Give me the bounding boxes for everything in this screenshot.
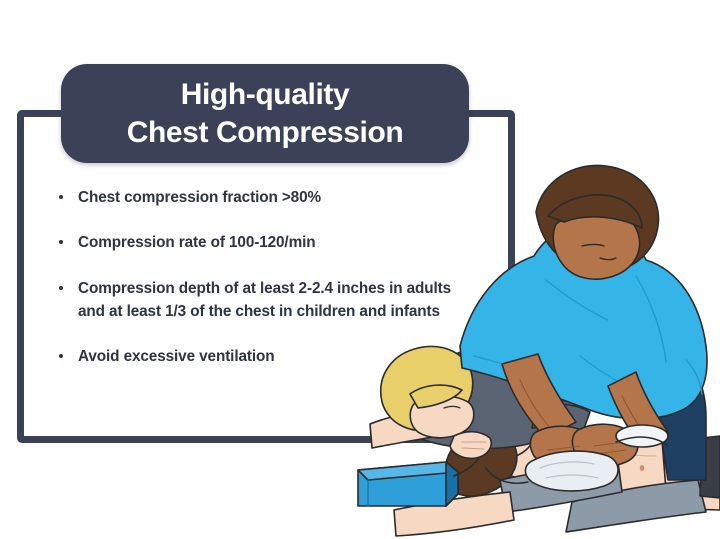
cpr-scene-graphic xyxy=(350,150,720,539)
cpr-illustration xyxy=(350,150,720,539)
list-item-label: Avoid excessive ventilation xyxy=(78,348,275,365)
bullet-dot-icon xyxy=(59,195,63,199)
list-item-label: Chest compression fraction >80% xyxy=(78,189,321,206)
list-item-label: Compression rate of 100-120/min xyxy=(78,234,315,251)
bullet-dot-icon xyxy=(59,240,63,244)
title-line-2: Chest Compression xyxy=(127,118,404,148)
poster-canvas: High-quality Chest Compression Chest com… xyxy=(0,0,720,539)
title-line-1: High-quality xyxy=(181,80,350,110)
title-badge: High-quality Chest Compression xyxy=(61,64,469,163)
bullet-dot-icon xyxy=(59,286,63,290)
bullet-dot-icon xyxy=(59,354,63,358)
